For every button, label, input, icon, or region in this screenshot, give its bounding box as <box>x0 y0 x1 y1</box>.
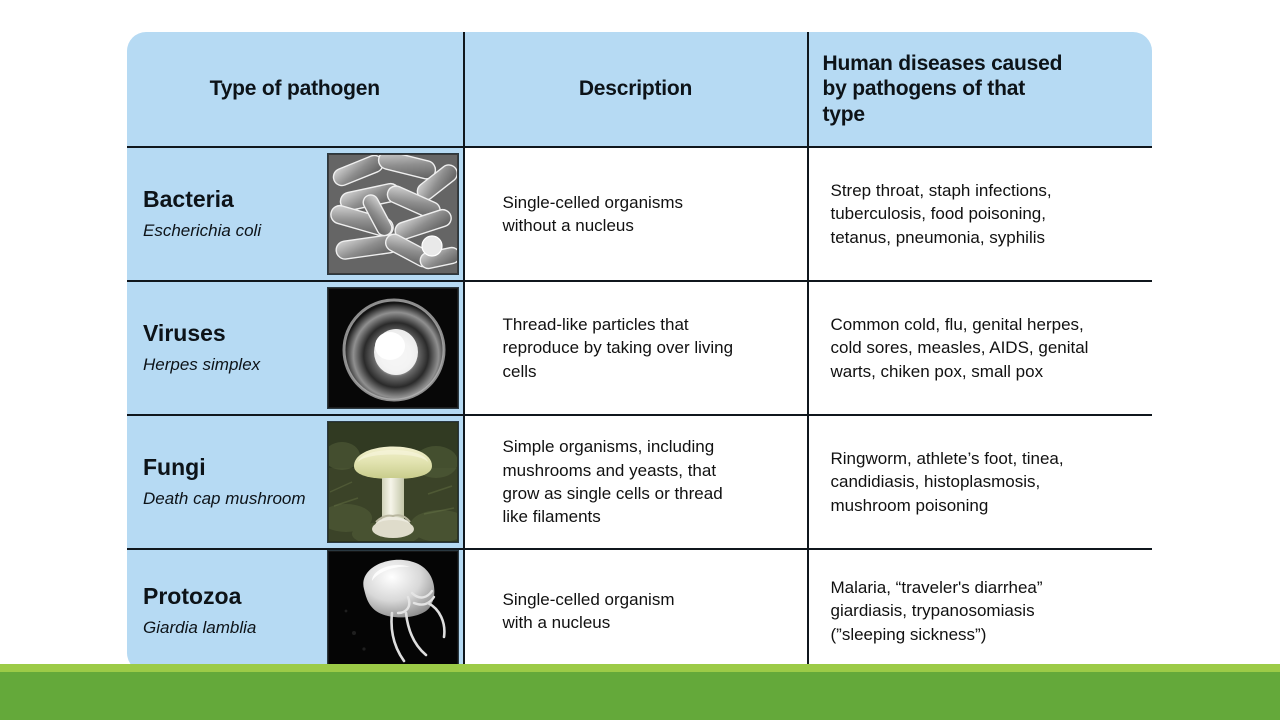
column-header-type-label: Type of pathogen <box>127 77 463 101</box>
giardia-micrograph-thumbnail <box>327 550 459 672</box>
table-row: Protozoa Giardia lamblia <box>126 549 1154 674</box>
pathogen-type-name: Fungi <box>143 455 327 480</box>
description-line: Single-celled organism <box>503 588 793 611</box>
cell-pathogen-type-bacteria: Bacteria Escherichia coli <box>126 147 464 281</box>
disease-line: giardiasis, trypanosomiasis <box>831 599 1139 622</box>
column-header-diseases-line3: type <box>823 102 1153 128</box>
disease-line: tuberculosis, food poisoning, <box>831 202 1139 225</box>
column-header-description-label: Description <box>465 77 807 101</box>
pathogen-type-name: Protozoa <box>143 584 327 609</box>
disease-line: Ringworm, athlete’s foot, tinea, <box>831 447 1139 470</box>
header-row: Type of pathogen Description Human disea… <box>126 31 1154 148</box>
description-line: Simple organisms, including <box>503 435 793 458</box>
disease-line: Common cold, flu, genital herpes, <box>831 313 1139 336</box>
description-line: reproduce by taking over living <box>503 336 793 359</box>
cell-description-fungi: Simple organisms, including mushrooms an… <box>464 415 808 549</box>
cell-description-protozoa: Single-celled organism with a nucleus <box>464 549 808 674</box>
column-header-diseases-line2: by pathogens of that <box>823 76 1153 102</box>
footer-decoration <box>0 664 1280 720</box>
cell-diseases-bacteria: Strep throat, staph infections, tubercul… <box>808 147 1154 281</box>
disease-line: mushroom poisoning <box>831 494 1139 517</box>
disease-line: Malaria, “traveler's diarrhea” <box>831 576 1139 599</box>
pathogen-species-name: Herpes simplex <box>143 356 327 375</box>
description-line: Single-celled organisms <box>503 191 793 214</box>
disease-line: cold sores, measles, AIDS, genital <box>831 336 1139 359</box>
column-header-diseases: Human diseases caused by pathogens of th… <box>808 31 1154 148</box>
table-header: Type of pathogen Description Human disea… <box>126 31 1154 148</box>
disease-line: Strep throat, staph infections, <box>831 179 1139 202</box>
column-header-diseases-line1: Human diseases caused <box>823 51 1153 77</box>
pathogen-table: Type of pathogen Description Human disea… <box>124 29 1155 675</box>
pathogen-type-name: Bacteria <box>143 187 327 212</box>
disease-line: candidiasis, histoplasmosis, <box>831 470 1139 493</box>
footer-dark-green-bar <box>0 672 1280 720</box>
pathogen-table-container: Type of pathogen Description Human disea… <box>124 29 1152 647</box>
cell-pathogen-type-viruses: Viruses Herpes simplex <box>126 281 464 415</box>
disease-line: (”sleeping sickness”) <box>831 623 1139 646</box>
pathogen-species-name: Escherichia coli <box>143 222 327 241</box>
description-line: mushrooms and yeasts, that <box>503 459 793 482</box>
pathogen-species-name: Death cap mushroom <box>143 490 327 509</box>
column-header-description: Description <box>464 31 808 148</box>
table-body: Bacteria Escherichia coli <box>126 147 1154 674</box>
cell-description-viruses: Thread-like particles that reproduce by … <box>464 281 808 415</box>
cell-diseases-viruses: Common cold, flu, genital herpes, cold s… <box>808 281 1154 415</box>
column-header-type: Type of pathogen <box>126 31 464 148</box>
table-row: Bacteria Escherichia coli <box>126 147 1154 281</box>
description-line: grow as single cells or thread <box>503 482 793 505</box>
disease-line: warts, chiken pox, small pox <box>831 360 1139 383</box>
bacteria-micrograph-thumbnail <box>327 153 459 275</box>
slide-canvas: Type of pathogen Description Human disea… <box>0 0 1280 720</box>
virus-micrograph-thumbnail <box>327 287 459 409</box>
cell-diseases-fungi: Ringworm, athlete’s foot, tinea, candidi… <box>808 415 1154 549</box>
table-row: Fungi Death cap mushroom <box>126 415 1154 549</box>
disease-line: tetanus, pneumonia, syphilis <box>831 226 1139 249</box>
cell-diseases-protozoa: Malaria, “traveler's diarrhea” giardiasi… <box>808 549 1154 674</box>
footer-light-green-bar <box>0 664 1280 672</box>
pathogen-type-name: Viruses <box>143 321 327 346</box>
table-row: Viruses Herpes simplex <box>126 281 1154 415</box>
description-line: Thread-like particles that <box>503 313 793 336</box>
mushroom-photo-thumbnail <box>327 421 459 543</box>
description-line: cells <box>503 360 793 383</box>
cell-pathogen-type-fungi: Fungi Death cap mushroom <box>126 415 464 549</box>
cell-pathogen-type-protozoa: Protozoa Giardia lamblia <box>126 549 464 674</box>
pathogen-species-name: Giardia lamblia <box>143 619 327 638</box>
description-line: like filaments <box>503 505 793 528</box>
description-line: without a nucleus <box>503 214 793 237</box>
cell-description-bacteria: Single-celled organisms without a nucleu… <box>464 147 808 281</box>
description-line: with a nucleus <box>503 611 793 634</box>
